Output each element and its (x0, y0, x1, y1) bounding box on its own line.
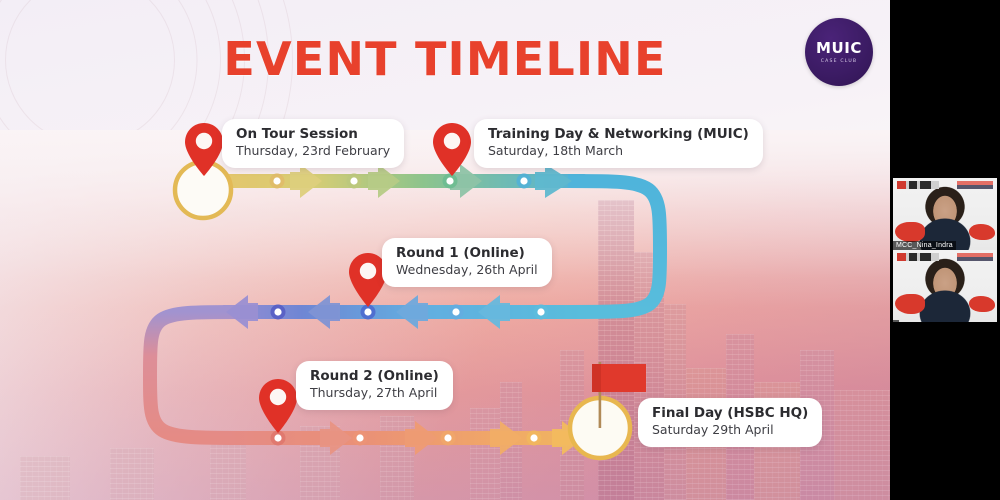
presentation-slide: EVENT TIMELINE MUIC CASE CLUB (0, 0, 890, 500)
event-date: Thursday, 23rd February (236, 143, 390, 159)
participant-video-sidebar: MCC_Nina_Indra (890, 0, 1000, 500)
event-date: Wednesday, 26th April (396, 262, 538, 278)
background-banner-left-icon (897, 181, 939, 189)
event-title: Round 2 (Online) (310, 368, 439, 385)
background-decor-right-icon (969, 224, 995, 240)
event-date: Saturday, 18th March (488, 143, 749, 159)
participant-name-label: MCC_Nina_Indra (893, 241, 956, 250)
background-decor-left-icon (895, 222, 925, 242)
participant-tile-1[interactable] (893, 250, 997, 322)
event-date: Thursday, 27th April (310, 385, 439, 401)
background-banner-right-icon (957, 253, 993, 261)
event-card-3: Round 2 (Online) Thursday, 27th April (296, 361, 453, 410)
map-pin-icon-1 (433, 123, 471, 176)
event-title: Final Day (HSBC HQ) (652, 405, 808, 422)
timeline-finish-marker (570, 362, 646, 458)
event-card-2: Round 1 (Online) Wednesday, 26th April (382, 238, 552, 287)
background-decor-left-icon (895, 294, 925, 314)
map-pin-icon-3 (259, 379, 297, 433)
event-card-4: Final Day (HSBC HQ) Saturday 29th April (638, 398, 822, 447)
background-banner-right-icon (957, 181, 993, 189)
event-title: Round 1 (Online) (396, 245, 538, 262)
participant-video-feed (893, 250, 997, 322)
event-card-0: On Tour Session Thursday, 23rd February (222, 119, 404, 168)
event-date: Saturday 29th April (652, 422, 808, 438)
event-title: On Tour Session (236, 126, 390, 143)
participant-video-feed (893, 178, 997, 250)
meeting-screen: EVENT TIMELINE MUIC CASE CLUB (0, 0, 1000, 500)
event-card-1: Training Day & Networking (MUIC) Saturda… (474, 119, 763, 168)
participant-name-label (893, 320, 899, 322)
event-title: Training Day & Networking (MUIC) (488, 126, 749, 143)
background-banner-left-icon (897, 253, 939, 261)
background-decor-right-icon (969, 296, 995, 312)
participant-tile-0[interactable]: MCC_Nina_Indra (893, 178, 997, 250)
